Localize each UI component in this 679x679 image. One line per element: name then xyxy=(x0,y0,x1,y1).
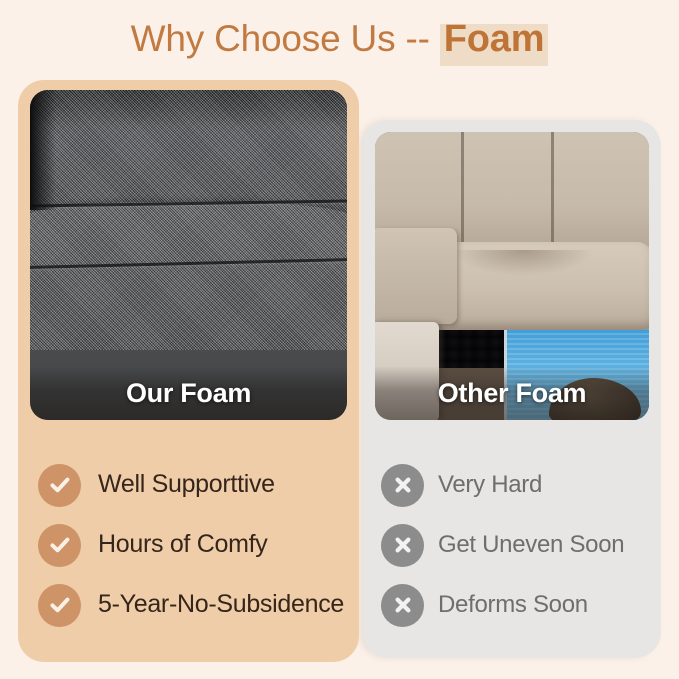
list-item: Hours of Comfy xyxy=(38,515,343,575)
list-item-label: Very Hard xyxy=(438,472,542,498)
page-title-highlight: Foam xyxy=(444,18,545,60)
check-circle-icon xyxy=(38,584,81,627)
other-foam-caption: Other Foam xyxy=(375,366,649,420)
other-foam-feature-list: Very Hard Get Uneven Soon Deforms Soon xyxy=(381,455,649,635)
other-foam-caption-text: Other Foam xyxy=(438,378,587,409)
list-item: Get Uneven Soon xyxy=(381,515,649,575)
list-item-label: Get Uneven Soon xyxy=(438,532,624,558)
list-item: 5-Year-No-Subsidence xyxy=(38,575,343,635)
list-item-label: 5-Year-No-Subsidence xyxy=(98,591,344,619)
our-photo-fabric-weave xyxy=(30,90,347,350)
list-item: Very Hard xyxy=(381,455,649,515)
cross-circle-icon xyxy=(381,464,424,507)
page-title-normal: Why Choose Us -- xyxy=(131,18,440,59)
other-foam-card: Other Foam Very Hard Get Uneven Soon xyxy=(363,120,661,658)
list-item-label: Well Supporttive xyxy=(98,471,275,499)
our-foam-card: Our Foam Well Supporttive Hours of Comfy xyxy=(18,80,359,662)
other-photo-backrest-seam-right xyxy=(551,132,554,260)
check-circle-icon xyxy=(38,464,81,507)
page-title-highlight-wrap: Foam xyxy=(440,18,549,61)
list-item: Deforms Soon xyxy=(381,575,649,635)
check-circle-icon xyxy=(38,524,81,567)
our-foam-caption: Our Foam xyxy=(30,366,347,420)
our-photo-left-shadow xyxy=(30,90,56,210)
page-title: Why Choose Us -- Foam xyxy=(0,18,679,61)
other-photo-seat-sag xyxy=(452,250,594,276)
cross-circle-icon xyxy=(381,584,424,627)
our-foam-feature-list: Well Supporttive Hours of Comfy 5-Year-N… xyxy=(38,455,343,635)
list-item-label: Hours of Comfy xyxy=(98,531,267,559)
list-item: Well Supporttive xyxy=(38,455,343,515)
other-photo-corner-cushion xyxy=(375,228,457,324)
list-item-label: Deforms Soon xyxy=(438,592,588,618)
our-foam-caption-text: Our Foam xyxy=(126,378,251,409)
other-foam-photo: Other Foam xyxy=(375,132,649,420)
our-foam-photo: Our Foam xyxy=(30,90,347,420)
cross-circle-icon xyxy=(381,524,424,567)
other-photo-backrest-seam-left xyxy=(461,132,464,260)
